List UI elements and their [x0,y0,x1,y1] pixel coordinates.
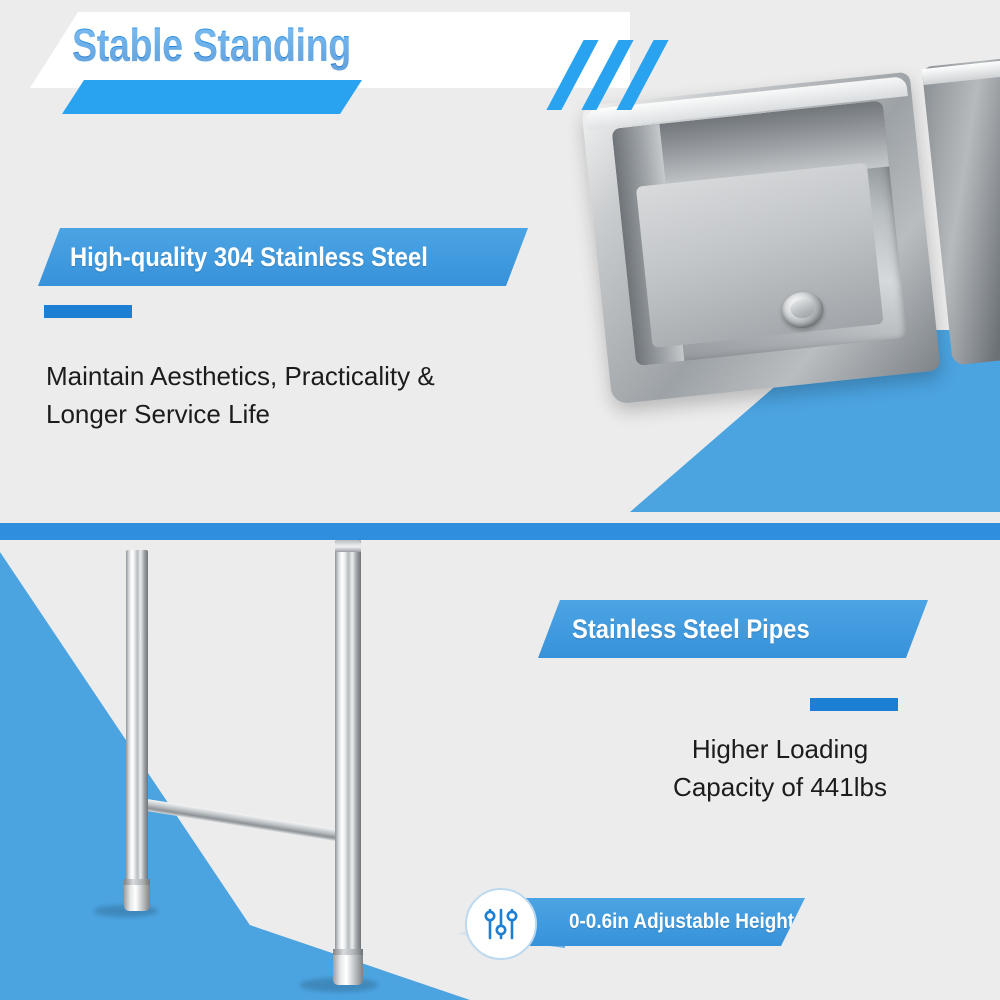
table-leg-back [126,550,148,890]
top-section: Stable Standing High-quality 304 Stainle… [0,0,1000,512]
table-leg-front [335,540,361,960]
adjustable-height-badge: 0-0.6in Adjustable Height [455,888,805,960]
diagonal-stripes-decoration [545,40,685,110]
page-title: Stable Standing [72,18,351,72]
accent-bar-steel [44,305,132,318]
heading-pipes-label: Stainless Steel Pipes [572,614,810,645]
product-feature-infographic: Stable Standing High-quality 304 Stainle… [0,0,1000,1000]
section-divider [0,523,1000,540]
heading-banner-steel: High-quality 304 Stainless Steel [38,228,528,286]
accent-bar-pipes [810,698,898,711]
legs-photo [0,540,470,1000]
badge-icon-circle [465,888,537,960]
badge-ribbon: 0-0.6in Adjustable Height [503,898,805,946]
body-text-steel: Maintain Aesthetics, Practicality & Long… [46,357,566,433]
heading-banner-pipes: Stainless Steel Pipes [538,600,928,658]
adjustable-foot-back [124,885,150,911]
badge-label: 0-0.6in Adjustable Height [569,910,794,934]
cross-brace-bar [139,798,353,843]
body-text-pipes: Higher Loading Capacity of 441lbs [600,730,960,806]
sliders-icon [480,903,522,945]
sink-main-basin [581,72,945,445]
leg-cap-front [335,540,361,552]
sink-floor [636,163,884,348]
title-banner-underbar [62,80,362,114]
adjustable-foot-front [333,955,363,985]
heading-steel-label: High-quality 304 Stainless Steel [70,242,428,273]
